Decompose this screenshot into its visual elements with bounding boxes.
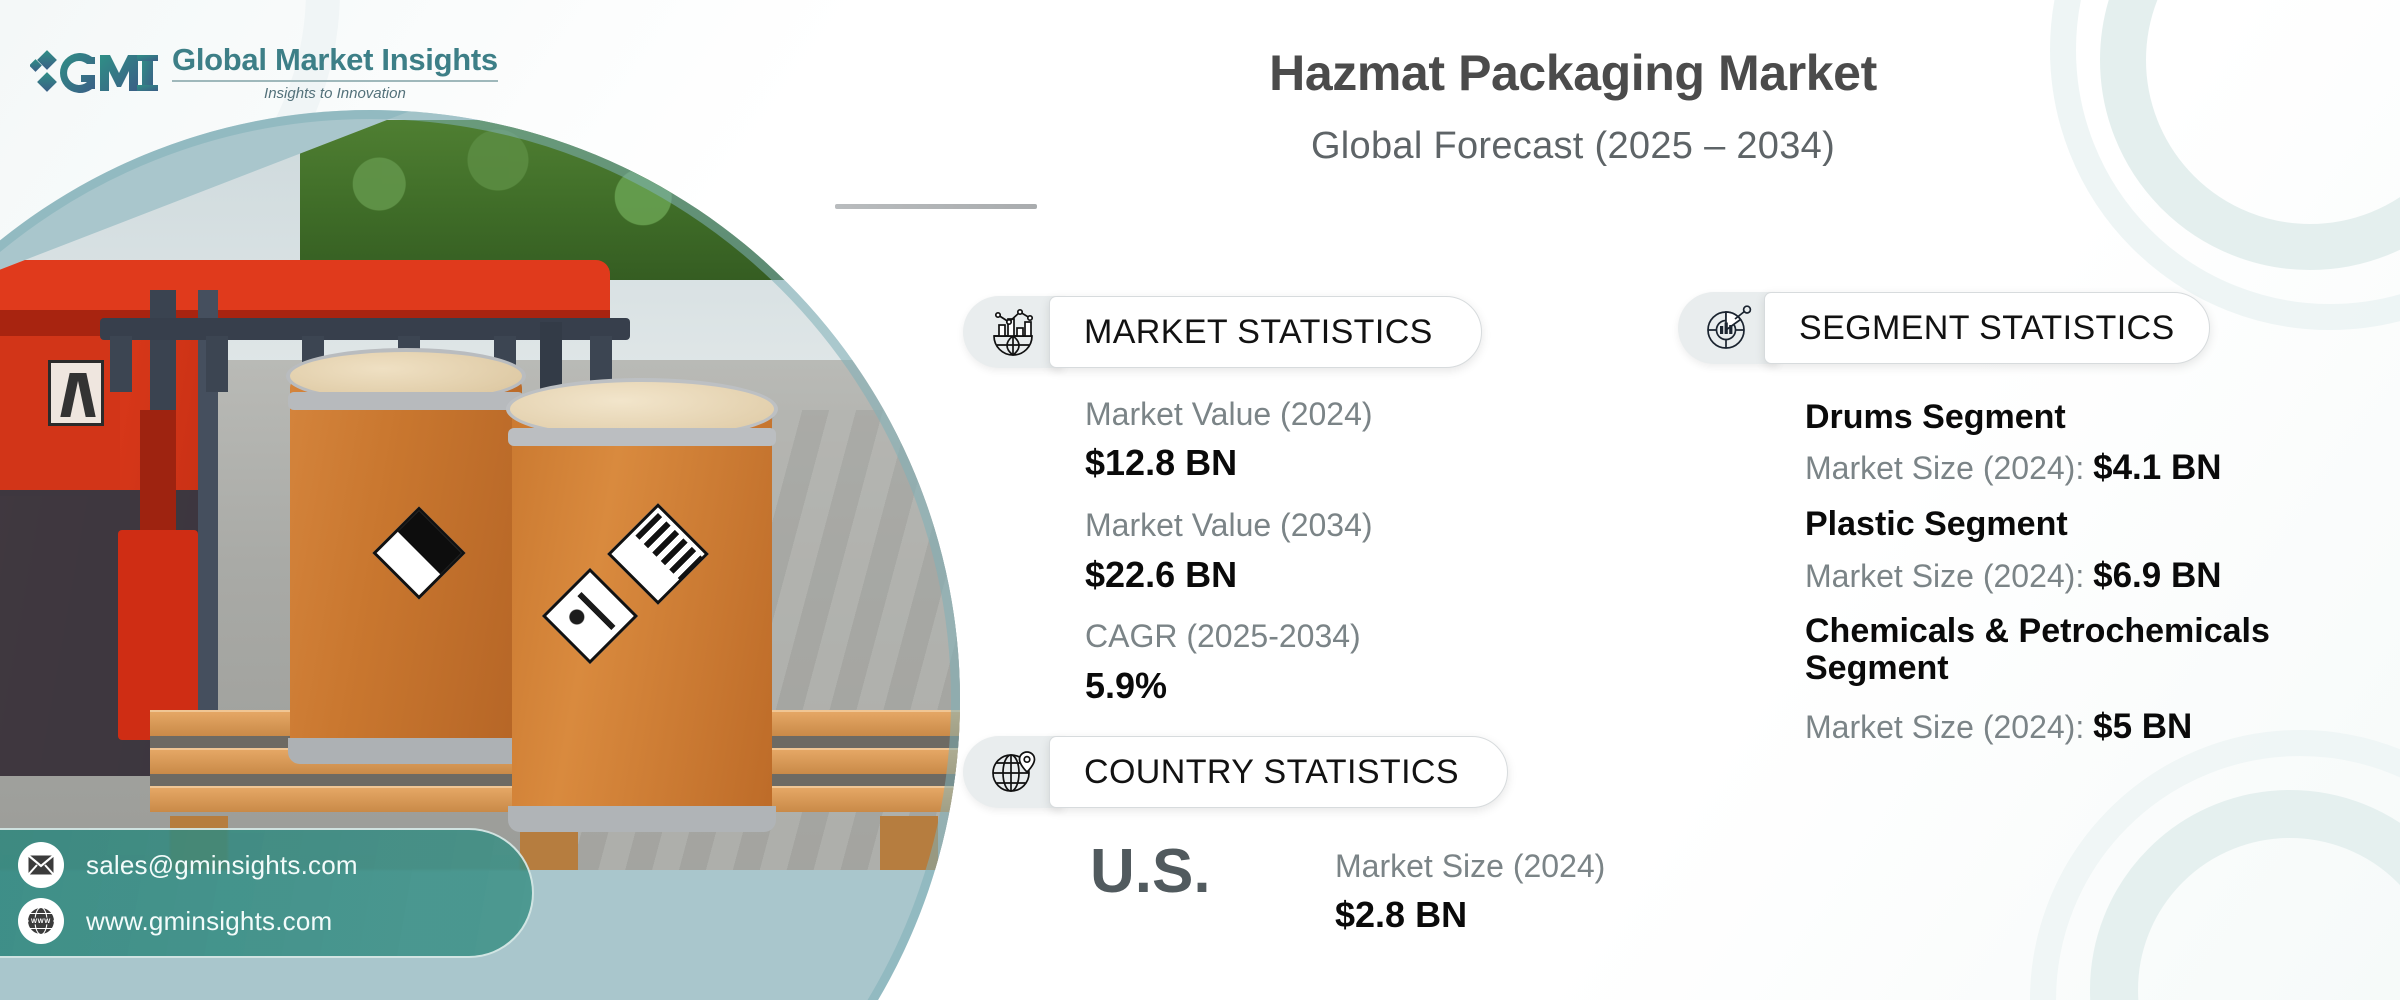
country-statistics-label: COUNTRY STATISTICS bbox=[1049, 736, 1508, 808]
www-globe-icon: WWW bbox=[18, 898, 64, 944]
market-value-2034-value: $22.6 BN bbox=[1085, 554, 1237, 596]
gmi-logo-tagline: Insights to Innovation bbox=[172, 86, 498, 101]
contact-email-row[interactable]: sales@gminsights.com bbox=[18, 842, 532, 888]
gmi-logo-text: Global Market Insights Insights to Innov… bbox=[172, 44, 498, 101]
page-title: Hazmat Packaging Market bbox=[833, 44, 2313, 102]
globe-bar-chart-icon bbox=[963, 296, 1063, 368]
market-value-2024-label: Market Value (2024) bbox=[1085, 396, 1373, 433]
segment-3-label: Market Size (2024): bbox=[1805, 709, 2093, 745]
contact-website: www.gminsights.com bbox=[86, 906, 332, 937]
infographic-canvas: sales@gminsights.com WWW www.gmin bbox=[0, 0, 2400, 1000]
decorative-arc-bottom-right-2 bbox=[2030, 730, 2400, 1000]
country-market-size-value: $2.8 BN bbox=[1335, 894, 1467, 936]
hero-photo bbox=[0, 110, 960, 870]
cagr-value: 5.9% bbox=[1085, 665, 1167, 707]
country-market-size-label: Market Size (2024) bbox=[1335, 848, 1605, 885]
svg-text:WWW: WWW bbox=[31, 918, 51, 925]
segment-1-name: Drums Segment bbox=[1805, 398, 2066, 437]
segment-3-row: Market Size (2024): $5 BN bbox=[1805, 707, 2192, 747]
cagr-label: CAGR (2025-2034) bbox=[1085, 618, 1361, 655]
gmi-logo-divider bbox=[172, 80, 498, 82]
country-name: U.S. bbox=[1090, 836, 1211, 907]
gmi-logo[interactable]: Global Market Insights Insights to Innov… bbox=[30, 44, 498, 101]
market-value-2024-value: $12.8 BN bbox=[1085, 442, 1237, 484]
country-statistics-badge: COUNTRY STATISTICS bbox=[963, 736, 1508, 808]
segment-statistics-label: SEGMENT STATISTICS bbox=[1764, 292, 2210, 364]
globe-pin-icon bbox=[963, 736, 1063, 808]
decorative-arc-bottom-right-1 bbox=[2090, 790, 2400, 1000]
segment-2-label: Market Size (2024): bbox=[1805, 558, 2093, 594]
title-underline bbox=[835, 204, 1037, 209]
segment-3-value: $5 BN bbox=[2093, 707, 2192, 746]
segment-1-label: Market Size (2024): bbox=[1805, 450, 2093, 486]
market-statistics-badge: MARKET STATISTICS bbox=[963, 296, 1482, 368]
segment-1-value: $4.1 BN bbox=[2093, 448, 2221, 487]
segment-1-row: Market Size (2024): $4.1 BN bbox=[1805, 448, 2222, 488]
envelope-icon bbox=[18, 842, 64, 888]
segment-statistics-badge: SEGMENT STATISTICS bbox=[1678, 292, 2210, 364]
segment-2-name: Plastic Segment bbox=[1805, 505, 2068, 544]
contact-website-row[interactable]: WWW www.gminsights.com bbox=[18, 898, 532, 944]
market-value-2034-label: Market Value (2034) bbox=[1085, 507, 1373, 544]
contact-email: sales@gminsights.com bbox=[86, 850, 358, 881]
segment-2-value: $6.9 BN bbox=[2093, 556, 2221, 595]
contact-pill: sales@gminsights.com WWW www.gmin bbox=[0, 828, 534, 958]
market-statistics-label: MARKET STATISTICS bbox=[1049, 296, 1482, 368]
donut-chart-icon bbox=[1678, 292, 1778, 364]
page-subtitle: Global Forecast (2025 – 2034) bbox=[833, 125, 2313, 168]
gmi-logo-mark bbox=[30, 45, 158, 101]
segment-2-row: Market Size (2024): $6.9 BN bbox=[1805, 556, 2222, 596]
segment-3-name: Chemicals & Petrochemicals Segment bbox=[1805, 613, 2325, 686]
gmi-logo-name: Global Market Insights bbox=[172, 44, 498, 75]
